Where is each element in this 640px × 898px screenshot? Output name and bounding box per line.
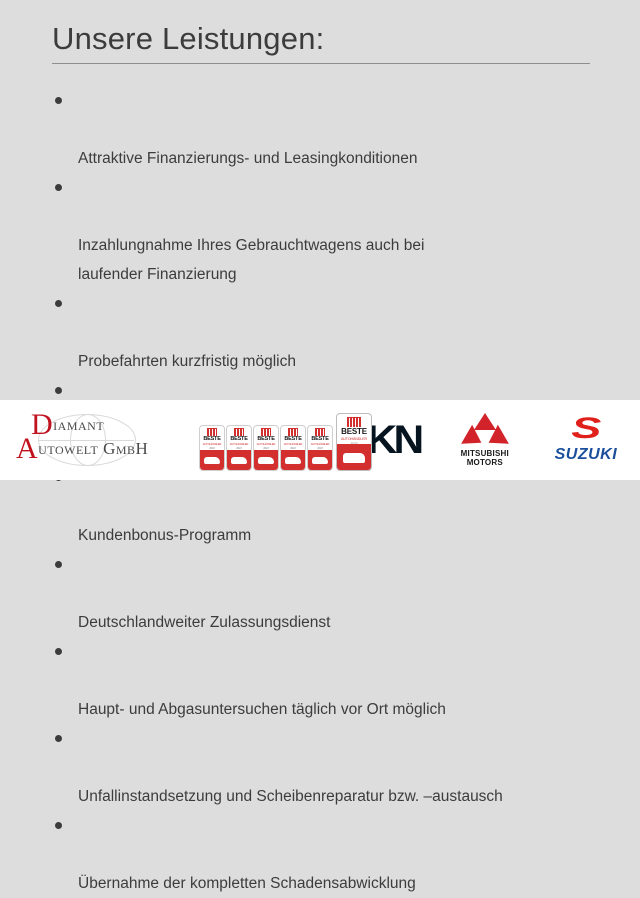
crest-icon <box>261 428 271 436</box>
award-badge-title: BESTE <box>227 436 251 443</box>
title-block: Unsere Leistungen: <box>52 22 590 64</box>
car-icon <box>227 450 251 470</box>
award-badge: BESTE Autohändler 2023 <box>226 425 252 471</box>
crest-icon <box>347 417 361 427</box>
mitsubishi-diamond-icon <box>465 413 505 447</box>
crest-icon <box>234 428 244 436</box>
award-badge-title: BESTE <box>200 436 224 443</box>
list-item-label: Deutschlandweiter Zulassungsdienst <box>78 614 330 631</box>
list-item: Haupt- und Abgasuntersuchen täglich vor … <box>52 637 610 724</box>
footer-logo-bar: Diamant Autowelt GmbH BESTE Autohändler … <box>0 400 640 480</box>
list-item-label: Übernahme der kompletten Schadensabwickl… <box>78 875 416 892</box>
bullet-icon <box>55 822 62 829</box>
award-badge-title: BESTE <box>254 436 278 443</box>
list-item: Unfallinstandsetzung und Scheibenreparat… <box>52 724 610 811</box>
brand-logo-suzuki: S SUZUKI <box>532 404 640 476</box>
award-badge-featured: BESTE Autohändler 2023 <box>336 413 372 471</box>
crest-icon <box>207 428 217 436</box>
crest-icon <box>315 428 325 436</box>
car-icon <box>337 444 371 470</box>
car-icon <box>254 450 278 470</box>
list-item-label: Haupt- und Abgasuntersuchen täglich vor … <box>78 701 446 718</box>
mitsubishi-wordmark-line-2: MOTORS <box>461 458 509 467</box>
kia-wordmark: KN <box>366 420 420 460</box>
services-slide: Unsere Leistungen: Attraktive Finanzieru… <box>0 0 640 480</box>
award-badges: BESTE Autohändler 2023 BESTE Autohändler… <box>199 409 349 471</box>
dealer-logo-line-2: Autowelt GmbH <box>16 439 148 459</box>
award-badge-title: BESTE <box>308 436 332 443</box>
dealer-logo-cap-a: A <box>16 432 38 465</box>
list-item-label: Attraktive Finanzierungs- und Leasingkon… <box>78 150 418 167</box>
list-item-label: Inzahlungnahme Ihres Gebrauchtwagens auc… <box>78 237 424 283</box>
list-item: Inzahlungnahme Ihres Gebrauchtwagens auc… <box>52 173 610 289</box>
brand-logo-mitsubishi: MITSUBISHI MOTORS <box>438 404 532 476</box>
list-item-label: Kundenbonus-Programm <box>78 527 251 544</box>
list-item: Deutschlandweiter Zulassungsdienst <box>52 550 610 637</box>
award-badge: BESTE Autohändler 2023 <box>253 425 279 471</box>
list-item-label: Unfallinstandsetzung und Scheibenreparat… <box>78 788 503 805</box>
list-item: Attraktive Finanzierungs- und Leasingkon… <box>52 86 610 173</box>
bullet-icon <box>55 184 62 191</box>
title-divider <box>52 63 590 64</box>
car-icon <box>308 450 332 470</box>
mitsubishi-wordmark-line-1: MITSUBISHI <box>461 449 509 458</box>
award-badge-title: BESTE <box>281 436 305 443</box>
page-title: Unsere Leistungen: <box>52 22 590 56</box>
dealer-logo-rest-1: iamant <box>53 415 104 434</box>
suzuki-s-icon: S <box>572 416 601 442</box>
car-icon <box>281 450 305 470</box>
crest-icon <box>288 428 298 436</box>
list-item-label: Probefahrten kurzfristig möglich <box>78 353 296 370</box>
bullet-icon <box>55 97 62 104</box>
bullet-icon <box>55 300 62 307</box>
award-badge: BESTE Autohändler 2023 <box>199 425 225 471</box>
bullet-icon <box>55 735 62 742</box>
dealer-logo: Diamant Autowelt GmbH <box>8 405 183 475</box>
bullet-icon <box>55 387 62 394</box>
services-list: Attraktive Finanzierungs- und Leasingkon… <box>52 86 610 898</box>
bullet-icon <box>55 648 62 655</box>
award-badge-title: BESTE <box>337 427 371 437</box>
award-badge: BESTE Autohändler 2023 <box>307 425 333 471</box>
dealer-logo-line-1: Diamant <box>31 415 104 435</box>
mitsubishi-wordmark: MITSUBISHI MOTORS <box>461 449 509 467</box>
car-icon <box>200 450 224 470</box>
suzuki-wordmark: SUZUKI <box>555 446 618 464</box>
list-item: Probefahrten kurzfristig möglich <box>52 289 610 376</box>
bullet-icon <box>55 561 62 568</box>
award-badge: BESTE Autohändler 2023 <box>280 425 306 471</box>
dealer-logo-rest-2: utowelt GmbH <box>38 439 148 458</box>
list-item: Übernahme der kompletten Schadensabwickl… <box>52 811 610 898</box>
